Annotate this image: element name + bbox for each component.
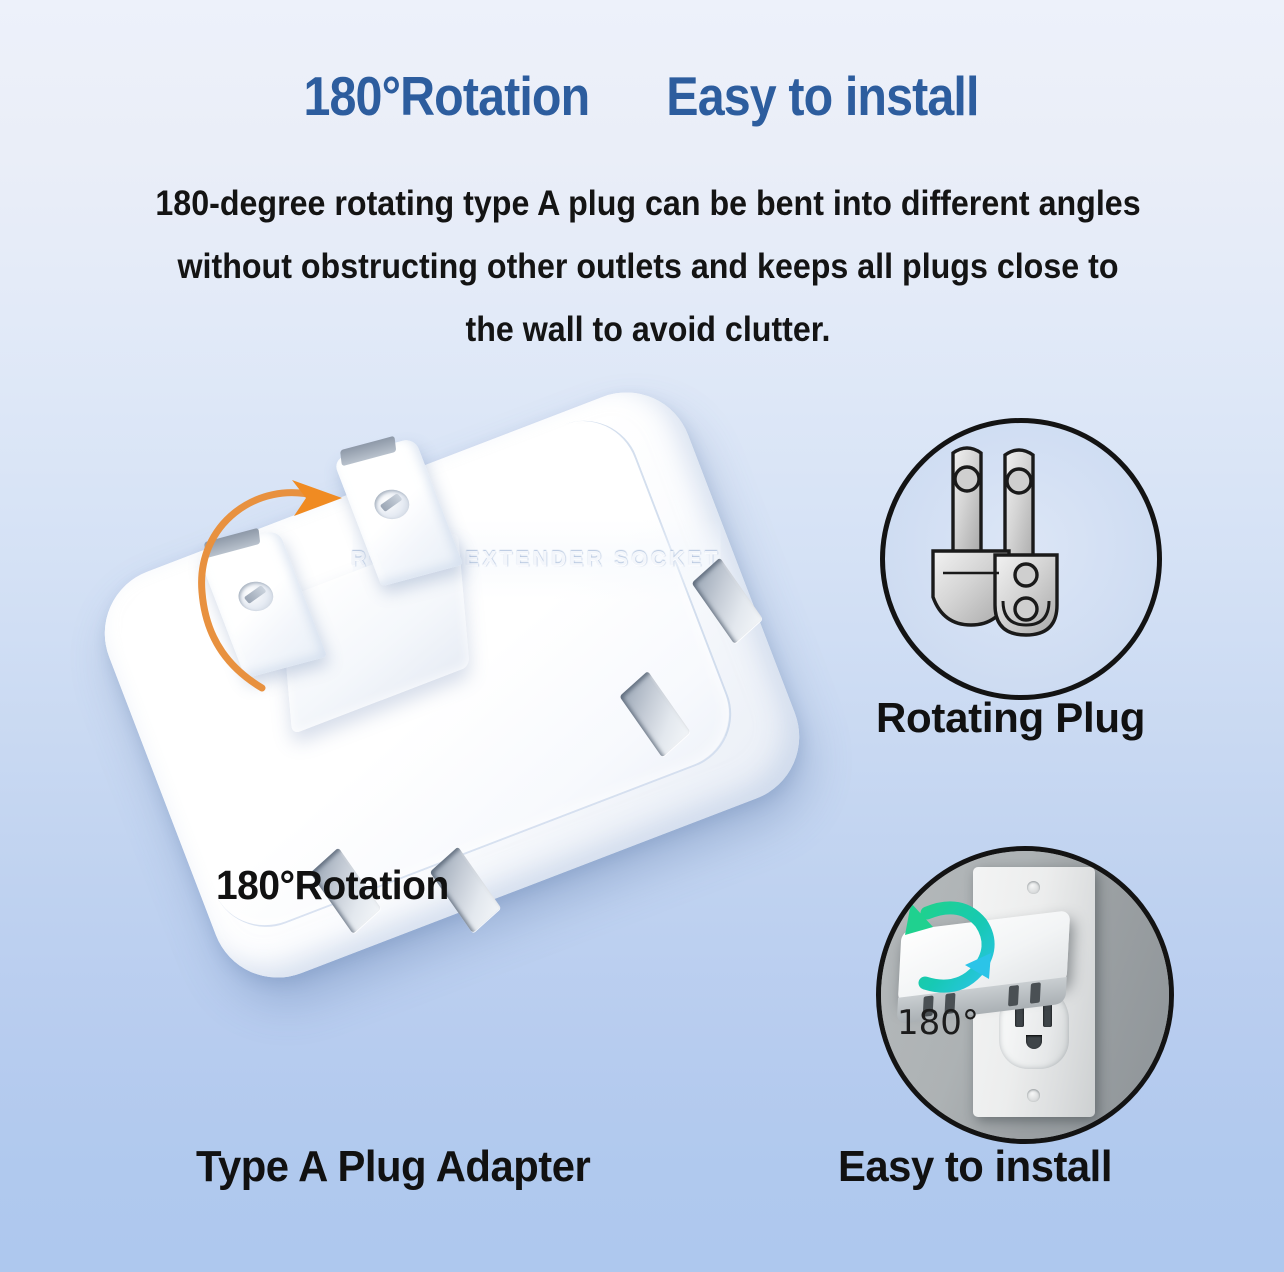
rotation-arrow-icon [166, 466, 406, 706]
product-illustration: ROTARY EXTENDER SOCKET 180°Rotation [70, 430, 890, 1160]
rotation-arrow-icon [887, 887, 1017, 1017]
wall-outlet-photo: 180° [881, 851, 1169, 1139]
inset-top-caption: Rotating Plug [876, 694, 1145, 742]
product-caption: Type A Plug Adapter [196, 1142, 590, 1192]
title-easy-install: Easy to install [666, 64, 978, 128]
prong-tip [340, 436, 396, 467]
rotation-callout-label: 180°Rotation [216, 862, 449, 909]
description-line-2: without obstructing other outlets and ke… [90, 235, 1205, 298]
rotating-plug-diagram-icon [885, 423, 1157, 695]
description-line-1: 180-degree rotating type A plug can be b… [90, 172, 1205, 235]
inset-rotating-plug [880, 418, 1162, 700]
inset-easy-install: 180° [876, 846, 1174, 1144]
description-paragraph: 180-degree rotating type A plug can be b… [42, 172, 1254, 361]
adapter-slot [1030, 982, 1041, 1003]
faceplate-screw [1027, 1089, 1040, 1102]
faceplate-screw [1027, 881, 1040, 894]
degree-label: 180° [897, 1003, 979, 1043]
socket-ground [1026, 1035, 1042, 1049]
title-rotation: 180°Rotation [304, 64, 590, 128]
title-spacer [609, 64, 645, 128]
description-line-3: the wall to avoid clutter. [90, 298, 1205, 361]
page-title: 180°Rotation Easy to install [0, 64, 1284, 128]
infographic-canvas: 180°Rotation Easy to install 180-degree … [0, 0, 1284, 1272]
inset-bottom-caption: Easy to install [838, 1142, 1112, 1192]
